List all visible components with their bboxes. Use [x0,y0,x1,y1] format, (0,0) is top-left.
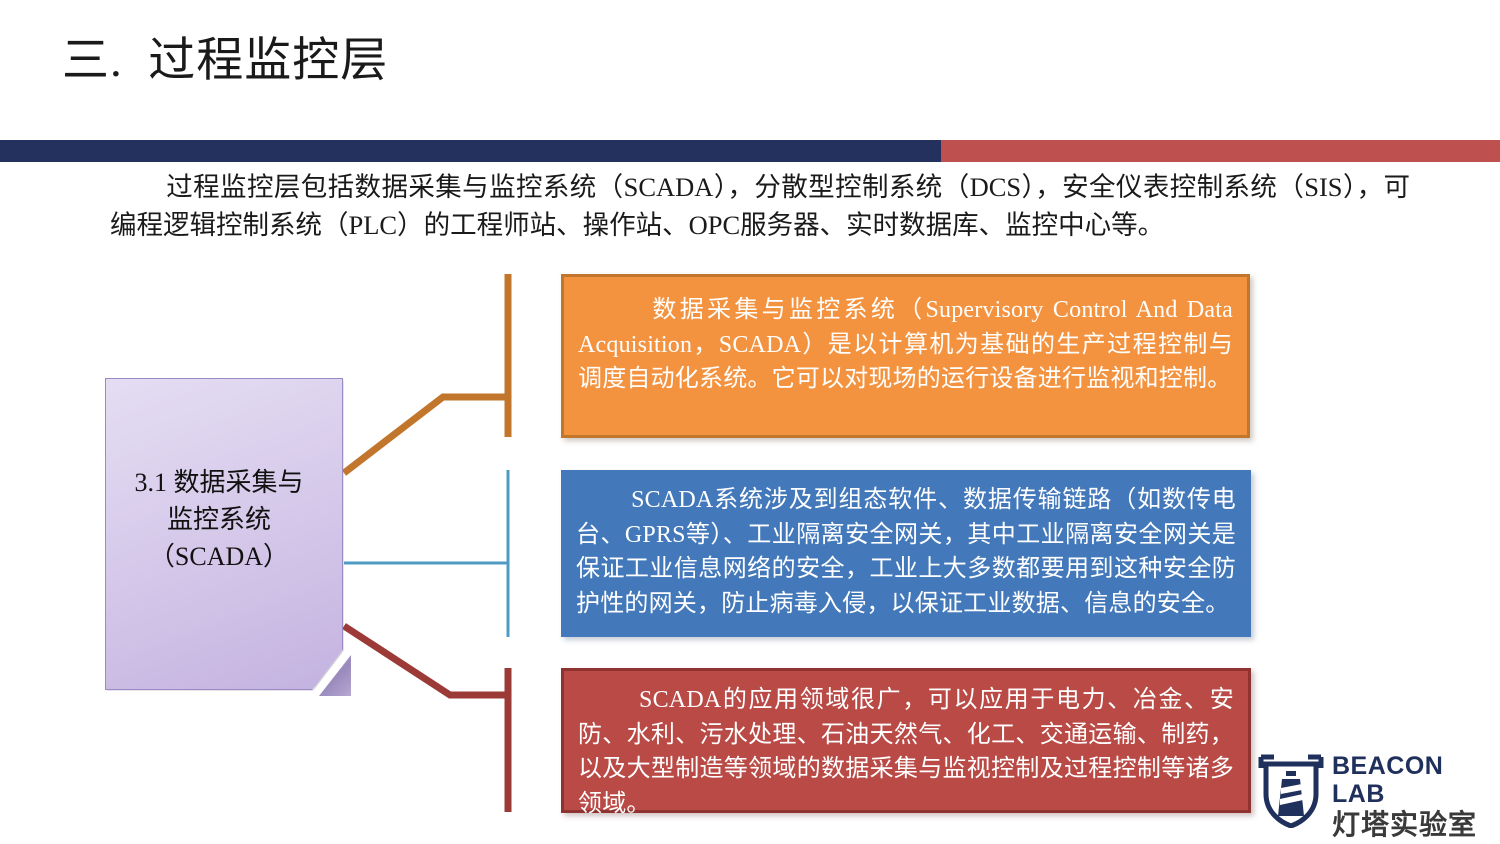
page-title: 三. 过程监控层 [62,35,388,88]
logo-chinese-name: 灯塔实验室 [1332,808,1484,842]
brand-logo: BEACON LAB 灯塔实验室 [1258,752,1486,830]
logo-text-block: BEACON LAB 灯塔实验室 [1332,752,1484,842]
divider-red-segment [941,140,1500,162]
content-box-text: SCADA的应用领域很广，可以应用于电力、冶金、安防、水利、污水处理、石油天然气… [564,671,1248,821]
note-card[interactable]: 3.1 数据采集与 监控系统 （SCADA） [100,372,352,697]
logo-english-name: BEACON LAB [1332,752,1484,808]
content-box-scada-applications[interactable]: SCADA的应用领域很广，可以应用于电力、冶金、安防、水利、污水处理、石油天然气… [561,668,1251,813]
note-card-label: 3.1 数据采集与 监控系统 （SCADA） [100,464,338,575]
header-divider [0,140,1500,162]
slide-canvas: 三. 过程监控层 过程监控层包括数据采集与监控系统（SCADA），分散型控制系统… [0,0,1500,844]
intro-paragraph: 过程监控层包括数据采集与监控系统（SCADA），分散型控制系统（DCS），安全仪… [110,168,1410,244]
content-box-scada-components[interactable]: SCADA系统涉及到组态软件、数据传输链路（如数传电台、GPRS等）、工业隔离安… [561,470,1251,637]
content-box-text: 数据采集与监控系统（Supervisory Control And Data A… [564,277,1247,397]
lighthouse-shield-icon [1258,754,1324,828]
content-box-text: SCADA系统涉及到组态软件、数据传输链路（如数传电台、GPRS等）、工业隔离安… [562,471,1250,621]
content-box-scada-definition[interactable]: 数据采集与监控系统（Supervisory Control And Data A… [561,274,1250,438]
divider-navy-segment [0,140,941,162]
